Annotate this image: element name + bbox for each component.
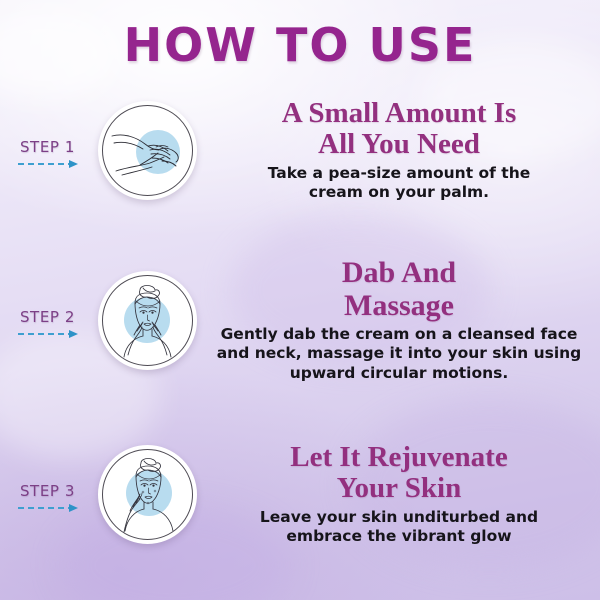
step-1-heading-line1: A Small Amount Is [282, 97, 516, 129]
step-1-text: A Small Amount Is All You Need Take a pe… [200, 98, 600, 202]
step-2-heading-line2: Massage [344, 289, 454, 322]
step-1-body: Take a pea-size amount of the cream on y… [208, 164, 590, 202]
step-2-circle [98, 271, 197, 370]
step-1-heading-line2: All You Need [318, 128, 480, 160]
step-2-icon-container [95, 271, 200, 370]
step-3-label-group: STEP 3 [0, 476, 95, 513]
step-1-circle [98, 101, 197, 200]
how-to-use-infographic: HOW TO USE STEP 1 [0, 0, 600, 600]
step-3-heading-line1: Let It Rejuvenate [290, 441, 507, 473]
step-1-body-line1: Take a pea-size amount of the [268, 164, 531, 182]
step-2-text: Dab And Massage Gently dab the cream on … [200, 257, 600, 382]
step-3-body: Leave your skin unditurbed and embrace t… [208, 508, 590, 546]
step-3-label: STEP 3 [20, 482, 75, 500]
page-title: HOW TO USE [124, 18, 477, 72]
step-row-2: STEP 2 [0, 262, 600, 378]
page-title-container: HOW TO USE [0, 18, 600, 72]
step-1-body-line2: cream on your palm. [309, 183, 489, 201]
step-1-label: STEP 1 [20, 138, 75, 156]
step-row-3: STEP 3 [0, 436, 600, 552]
step-2-body-line2: and neck, massage it into your skin usin… [217, 344, 582, 362]
step-3-heading-line2: Your Skin [337, 472, 461, 504]
step-3-body-line1: Leave your skin unditurbed and [260, 508, 538, 526]
dashed-arrow-right-icon [17, 329, 79, 339]
step-3-circle [98, 445, 197, 544]
woman-dabbing-face-icon [100, 273, 195, 368]
hands-applying-cream-icon [100, 103, 195, 198]
step-2-body: Gently dab the cream on a cleansed face … [208, 325, 590, 383]
step-2-label-group: STEP 2 [0, 302, 95, 339]
step-1-heading: A Small Amount Is All You Need [208, 98, 590, 161]
dashed-arrow-right-icon [17, 159, 79, 169]
step-3-body-line2: embrace the vibrant glow [286, 527, 511, 545]
step-row-1: STEP 1 [0, 92, 600, 208]
step-1-label-group: STEP 1 [0, 132, 95, 169]
step-2-heading-line1: Dab And [342, 256, 456, 289]
step-2-heading: Dab And Massage [208, 257, 590, 322]
step-3-text: Let It Rejuvenate Your Skin Leave your s… [200, 442, 600, 546]
step-2-body-line1: Gently dab the cream on a cleansed face [221, 325, 578, 343]
woman-glowing-skin-icon [100, 447, 195, 542]
step-2-body-line3: upward circular motions. [290, 364, 509, 382]
step-1-icon-container [95, 101, 200, 200]
dashed-arrow-right-icon [17, 503, 79, 513]
step-3-heading: Let It Rejuvenate Your Skin [208, 442, 590, 505]
step-3-icon-container [95, 445, 200, 544]
step-2-label: STEP 2 [20, 308, 75, 326]
